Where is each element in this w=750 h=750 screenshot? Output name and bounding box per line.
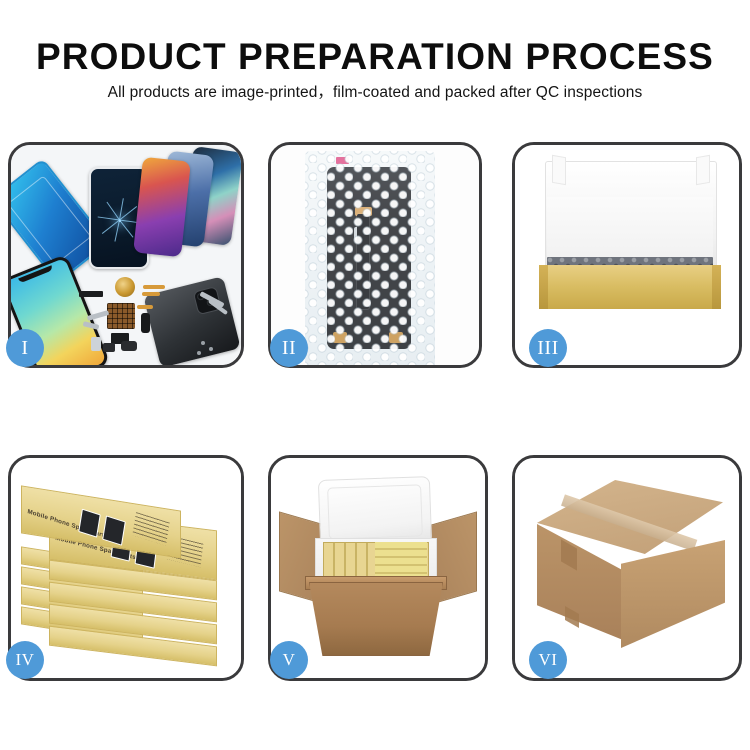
carton-right-face	[621, 540, 725, 648]
box-spec-lines	[132, 512, 169, 546]
tray-edge-right	[712, 265, 721, 309]
spare-part-module	[91, 337, 101, 351]
step-badge-1: I	[6, 329, 44, 367]
tray-edge-left	[539, 265, 548, 309]
spare-part-tool	[87, 310, 110, 321]
step-badge-2: II	[270, 329, 308, 367]
step-badge-4: IV	[6, 641, 44, 679]
page-title: PRODUCT PREPARATION PROCESS	[0, 36, 750, 78]
spare-part-screw	[201, 341, 205, 345]
spare-part-camera	[141, 313, 150, 333]
spare-part-connector-grid	[107, 303, 135, 329]
step-image-carton-with-foam-box-of-products	[271, 458, 485, 678]
lid-tab-right	[696, 155, 710, 185]
spare-part-screw	[197, 351, 201, 355]
spare-part-flex-cable	[137, 305, 153, 309]
step-badge-5: V	[270, 641, 308, 679]
carton-front-panel	[309, 582, 443, 656]
step-image-lcd-screen-in-bubble-wrap	[271, 145, 479, 365]
page-subtitle: All products are image-printed，film-coat…	[0, 83, 750, 103]
step-panel-1	[8, 142, 244, 368]
purple-orange-phone	[133, 157, 191, 257]
step-badge-6: VI	[529, 641, 567, 679]
spare-part-speaker	[121, 341, 137, 351]
step-badge-3: III	[529, 329, 567, 367]
yellow-product-boxes-stacked	[375, 542, 427, 580]
crack-line	[119, 220, 133, 238]
lid-tab-left	[552, 155, 566, 185]
spare-part-speaker-coil	[115, 277, 135, 297]
spare-part-chip	[79, 291, 103, 297]
spare-part-speaker	[103, 343, 115, 352]
step-image-stacked-spare-parts-boxes: Mobile Phone Spare Parts Mobile Phone Sp…	[11, 458, 241, 678]
spare-part-flex-cable	[143, 285, 165, 289]
yellow-kraft-tray	[539, 265, 721, 309]
spare-part-flex-cable	[142, 292, 160, 296]
bubble-texture	[305, 151, 435, 365]
header: PRODUCT PREPARATION PROCESS All products…	[0, 0, 750, 130]
phone-back-housing	[143, 276, 240, 365]
box-window-screen	[102, 515, 126, 545]
spare-part-screw	[209, 347, 213, 351]
step-panel-4: Mobile Phone Spare Parts Mobile Phone Sp…	[8, 455, 244, 681]
box-window-screen	[78, 509, 101, 538]
bubble-wrap-bag	[305, 151, 435, 365]
step-image-assorted-phone-screens-and-spare-parts	[11, 145, 241, 365]
